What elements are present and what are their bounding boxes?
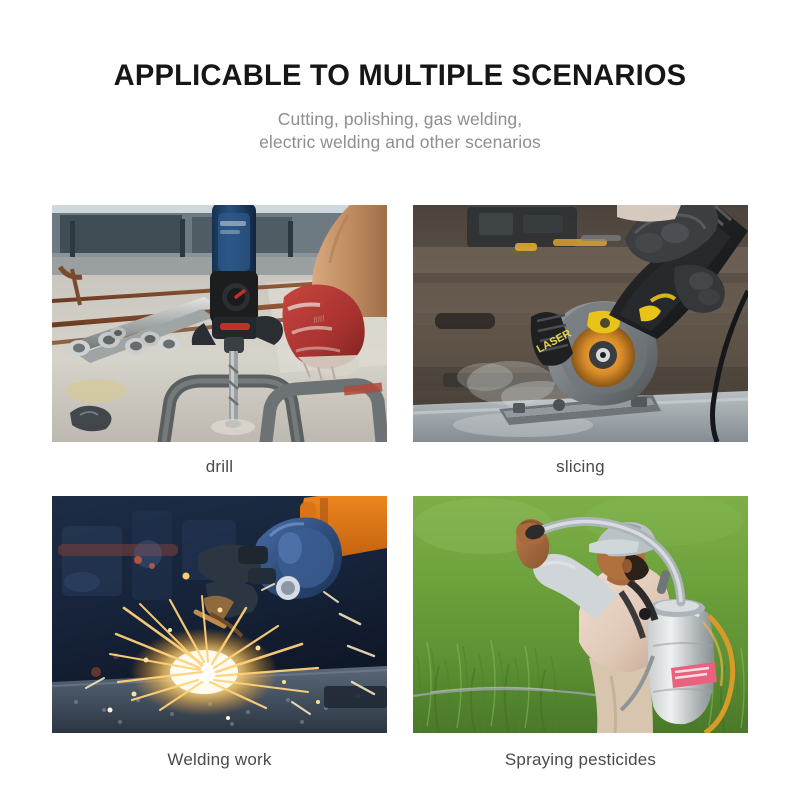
scenario-card-spraying-pesticides[interactable]: Spraying pesticides xyxy=(413,496,748,771)
subtitle-line-1: Cutting, polishing, gas welding, xyxy=(0,108,800,131)
scenario-caption-drill: drill xyxy=(52,456,387,478)
scenario-caption-spraying-pesticides: Spraying pesticides xyxy=(413,749,748,771)
page-title: APPLICABLE TO MULTIPLE SCENARIOS xyxy=(12,58,788,94)
scenario-card-slicing[interactable]: LASER xyxy=(413,205,748,478)
header: APPLICABLE TO MULTIPLE SCENARIOS Cutting… xyxy=(0,58,800,154)
scenarios-page: APPLICABLE TO MULTIPLE SCENARIOS Cutting… xyxy=(0,0,800,800)
scenario-caption-slicing: slicing xyxy=(413,456,748,478)
subtitle-line-2: electric welding and other scenarios xyxy=(0,131,800,154)
rotary-hammer-drill-photo[interactable]: ///// xyxy=(52,205,387,442)
backpack-sprayer-farmer-photo[interactable] xyxy=(413,496,748,733)
scenario-caption-welding-work: Welding work xyxy=(52,749,387,771)
scenario-card-welding-work[interactable]: Welding work xyxy=(52,496,387,771)
mini-circular-saw-photo[interactable]: LASER xyxy=(413,205,748,442)
page-subtitle: Cutting, polishing, gas welding, electri… xyxy=(0,108,800,154)
scenario-grid: ///// drill xyxy=(52,205,748,771)
scenario-card-drill[interactable]: ///// drill xyxy=(52,205,387,478)
robotic-welding-arm-photo[interactable] xyxy=(52,496,387,733)
